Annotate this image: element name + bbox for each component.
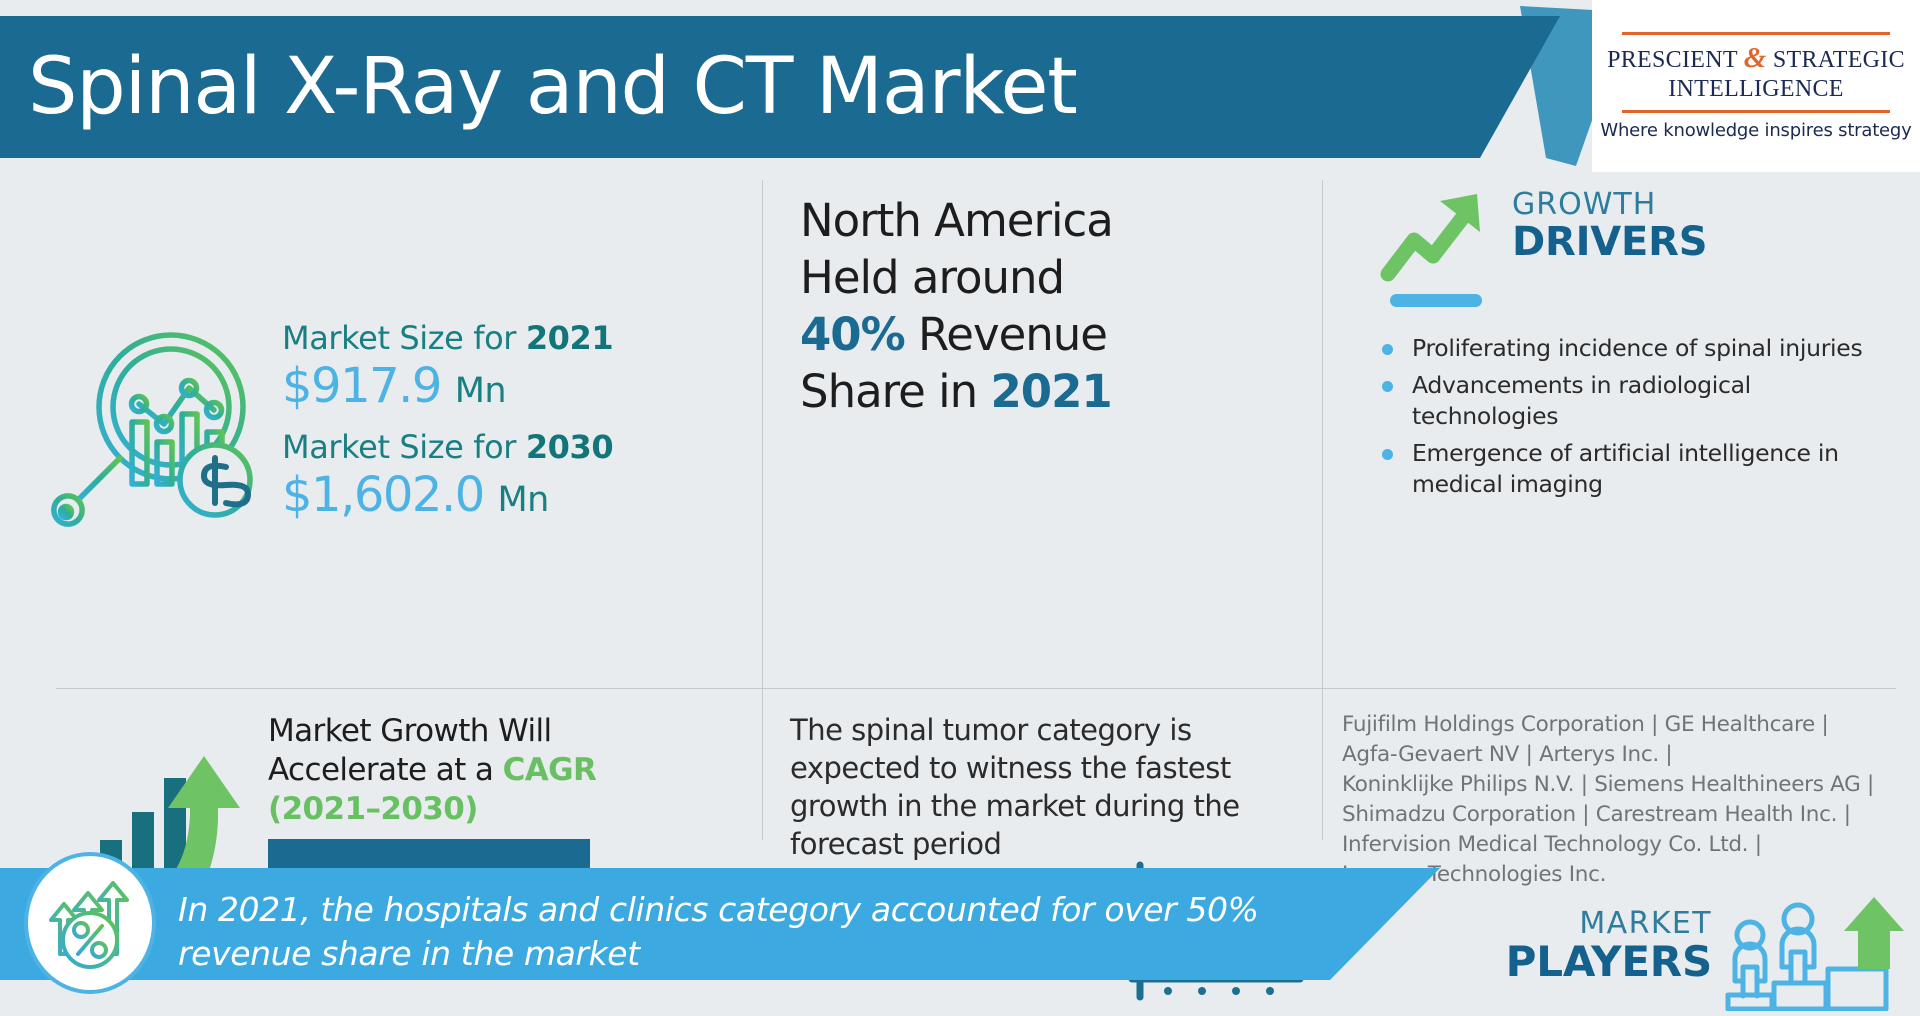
- na-line-1: North America: [800, 192, 1300, 249]
- market-size-2021-label: Market Size for 2021: [282, 318, 613, 358]
- driver-text: Proliferating incidence of spinal injuri…: [1412, 334, 1862, 362]
- growth-arrow-icon: [1378, 184, 1496, 288]
- market-players-list: Fujifilm Holdings Corporation | GE Healt…: [1342, 710, 1912, 891]
- cagr-title-prefix: Accelerate at a: [268, 752, 503, 788]
- market-players-footer: MARKET PLAYERS: [1342, 895, 1912, 1011]
- logo-rule-top: [1622, 32, 1890, 35]
- header-banner: Spinal X-Ray and CT Market: [0, 16, 1560, 158]
- logo-strategic: STRATEGIC: [1773, 47, 1905, 73]
- ms-2030-year: 2030: [526, 428, 613, 466]
- market-size-text: Market Size for 2021 $917.9 Mn Market Si…: [282, 318, 613, 535]
- ms-2030-prefix: Market Size for: [282, 428, 526, 466]
- na-share-prefix: Share in: [800, 365, 991, 418]
- content-grid: Market Size for 2021 $917.9 Mn Market Si…: [0, 172, 1920, 848]
- growth-drivers-words: GROWTH DRIVERS: [1512, 184, 1707, 264]
- na-line-4: Share in 2021: [800, 363, 1300, 420]
- logo-ampersand: &: [1744, 42, 1767, 74]
- growth-drivers-list: Proliferating incidence of spinal injuri…: [1378, 333, 1898, 500]
- drivers-label: DRIVERS: [1512, 220, 1707, 264]
- ms-2021-year: 2021: [526, 319, 613, 357]
- percent-arrows-up-icon: [24, 852, 156, 994]
- players-line: Shimadzu Corporation | Carestream Health…: [1342, 800, 1912, 830]
- market-players-panel: Fujifilm Holdings Corporation | GE Healt…: [1342, 710, 1912, 1011]
- market-label: MARKET: [1506, 909, 1712, 939]
- north-america-statement: North America Held around 40% Revenue Sh…: [800, 192, 1300, 421]
- company-logo: PRESCIENT & STRATEGIC INTELLIGENCE Where…: [1592, 0, 1920, 172]
- podium-people-arrow-icon: [1722, 891, 1912, 1011]
- players-label: PLAYERS: [1506, 939, 1712, 984]
- ms-2021-unit: Mn: [455, 371, 506, 411]
- na-share-value: 40%: [800, 308, 905, 361]
- bullet-icon: [1382, 344, 1393, 355]
- magnifier-chart-dollar-icon: [40, 312, 270, 542]
- driver-text: Advancements in radiological technologie…: [1412, 371, 1751, 430]
- ms-2021-prefix: Market Size for: [282, 319, 526, 357]
- market-size-2021-value: $917.9 Mn: [282, 358, 613, 415]
- cagr-period: (2021–2030): [268, 790, 596, 829]
- cagr-title: Market Growth Will Accelerate at a CAGR …: [268, 712, 596, 829]
- list-item: Advancements in radiological technologie…: [1378, 370, 1898, 432]
- market-size-2030-value: $1,602.0 Mn: [282, 467, 613, 524]
- players-line: Koninklijke Philips N.V. | Siemens Healt…: [1342, 770, 1912, 800]
- players-line: Agfa-Gevaert NV | Arterys Inc. |: [1342, 740, 1912, 770]
- market-players-heading: MARKET PLAYERS: [1506, 909, 1712, 984]
- growth-drivers-underline: [1390, 294, 1482, 307]
- market-size-2030-label: Market Size for 2030: [282, 427, 613, 467]
- list-item: Emergence of artificial intelligence in …: [1378, 438, 1898, 500]
- logo-prescient: PRESCIENT: [1607, 47, 1737, 73]
- page-title: Spinal X-Ray and CT Market: [0, 42, 1077, 132]
- spinal-tumor-text: The spinal tumor category is expected to…: [790, 712, 1310, 864]
- cagr-acronym: CAGR: [503, 752, 597, 788]
- logo-line-1: PRESCIENT & STRATEGIC: [1607, 42, 1905, 75]
- players-line: Fujifilm Holdings Corporation | GE Healt…: [1342, 710, 1912, 740]
- bullet-icon: [1382, 381, 1393, 392]
- north-america-panel: North America Held around 40% Revenue Sh…: [800, 192, 1300, 421]
- na-line-3: 40% Revenue: [800, 306, 1300, 363]
- cagr-title-line1: Market Growth Will: [268, 712, 596, 751]
- growth-label: GROWTH: [1512, 190, 1707, 220]
- divider-vertical-right: [1322, 180, 1323, 840]
- logo-rule-bottom: [1622, 110, 1890, 113]
- ms-2030-amount: $1,602.0: [282, 467, 484, 523]
- growth-drivers-panel: GROWTH DRIVERS Proliferating incidence o…: [1378, 184, 1898, 506]
- spinal-tumor-panel: The spinal tumor category is expected to…: [790, 712, 1310, 864]
- footer-statement: In 2021, the hospitals and clinics categ…: [178, 888, 1338, 975]
- na-year: 2021: [991, 365, 1112, 418]
- logo-intelligence: INTELLIGENCE: [1668, 76, 1844, 103]
- market-size-panel: Market Size for 2021 $917.9 Mn Market Si…: [40, 182, 750, 672]
- ms-2030-unit: Mn: [498, 480, 549, 520]
- ms-2021-amount: $917.9: [282, 358, 441, 414]
- driver-text: Emergence of artificial intelligence in …: [1412, 439, 1839, 498]
- bullet-icon: [1382, 449, 1393, 460]
- cagr-title-line2: Accelerate at a CAGR: [268, 751, 596, 790]
- list-item: Proliferating incidence of spinal injuri…: [1378, 333, 1898, 364]
- logo-tagline: Where knowledge inspires strategy: [1600, 120, 1911, 141]
- players-line: Infervision Medical Technology Co. Ltd. …: [1342, 830, 1912, 860]
- divider-horizontal: [56, 688, 1896, 689]
- growth-drivers-heading: GROWTH DRIVERS: [1378, 184, 1898, 288]
- divider-vertical-left: [762, 180, 763, 840]
- na-revenue-word: Revenue: [905, 308, 1107, 361]
- na-line-2: Held around: [800, 249, 1300, 306]
